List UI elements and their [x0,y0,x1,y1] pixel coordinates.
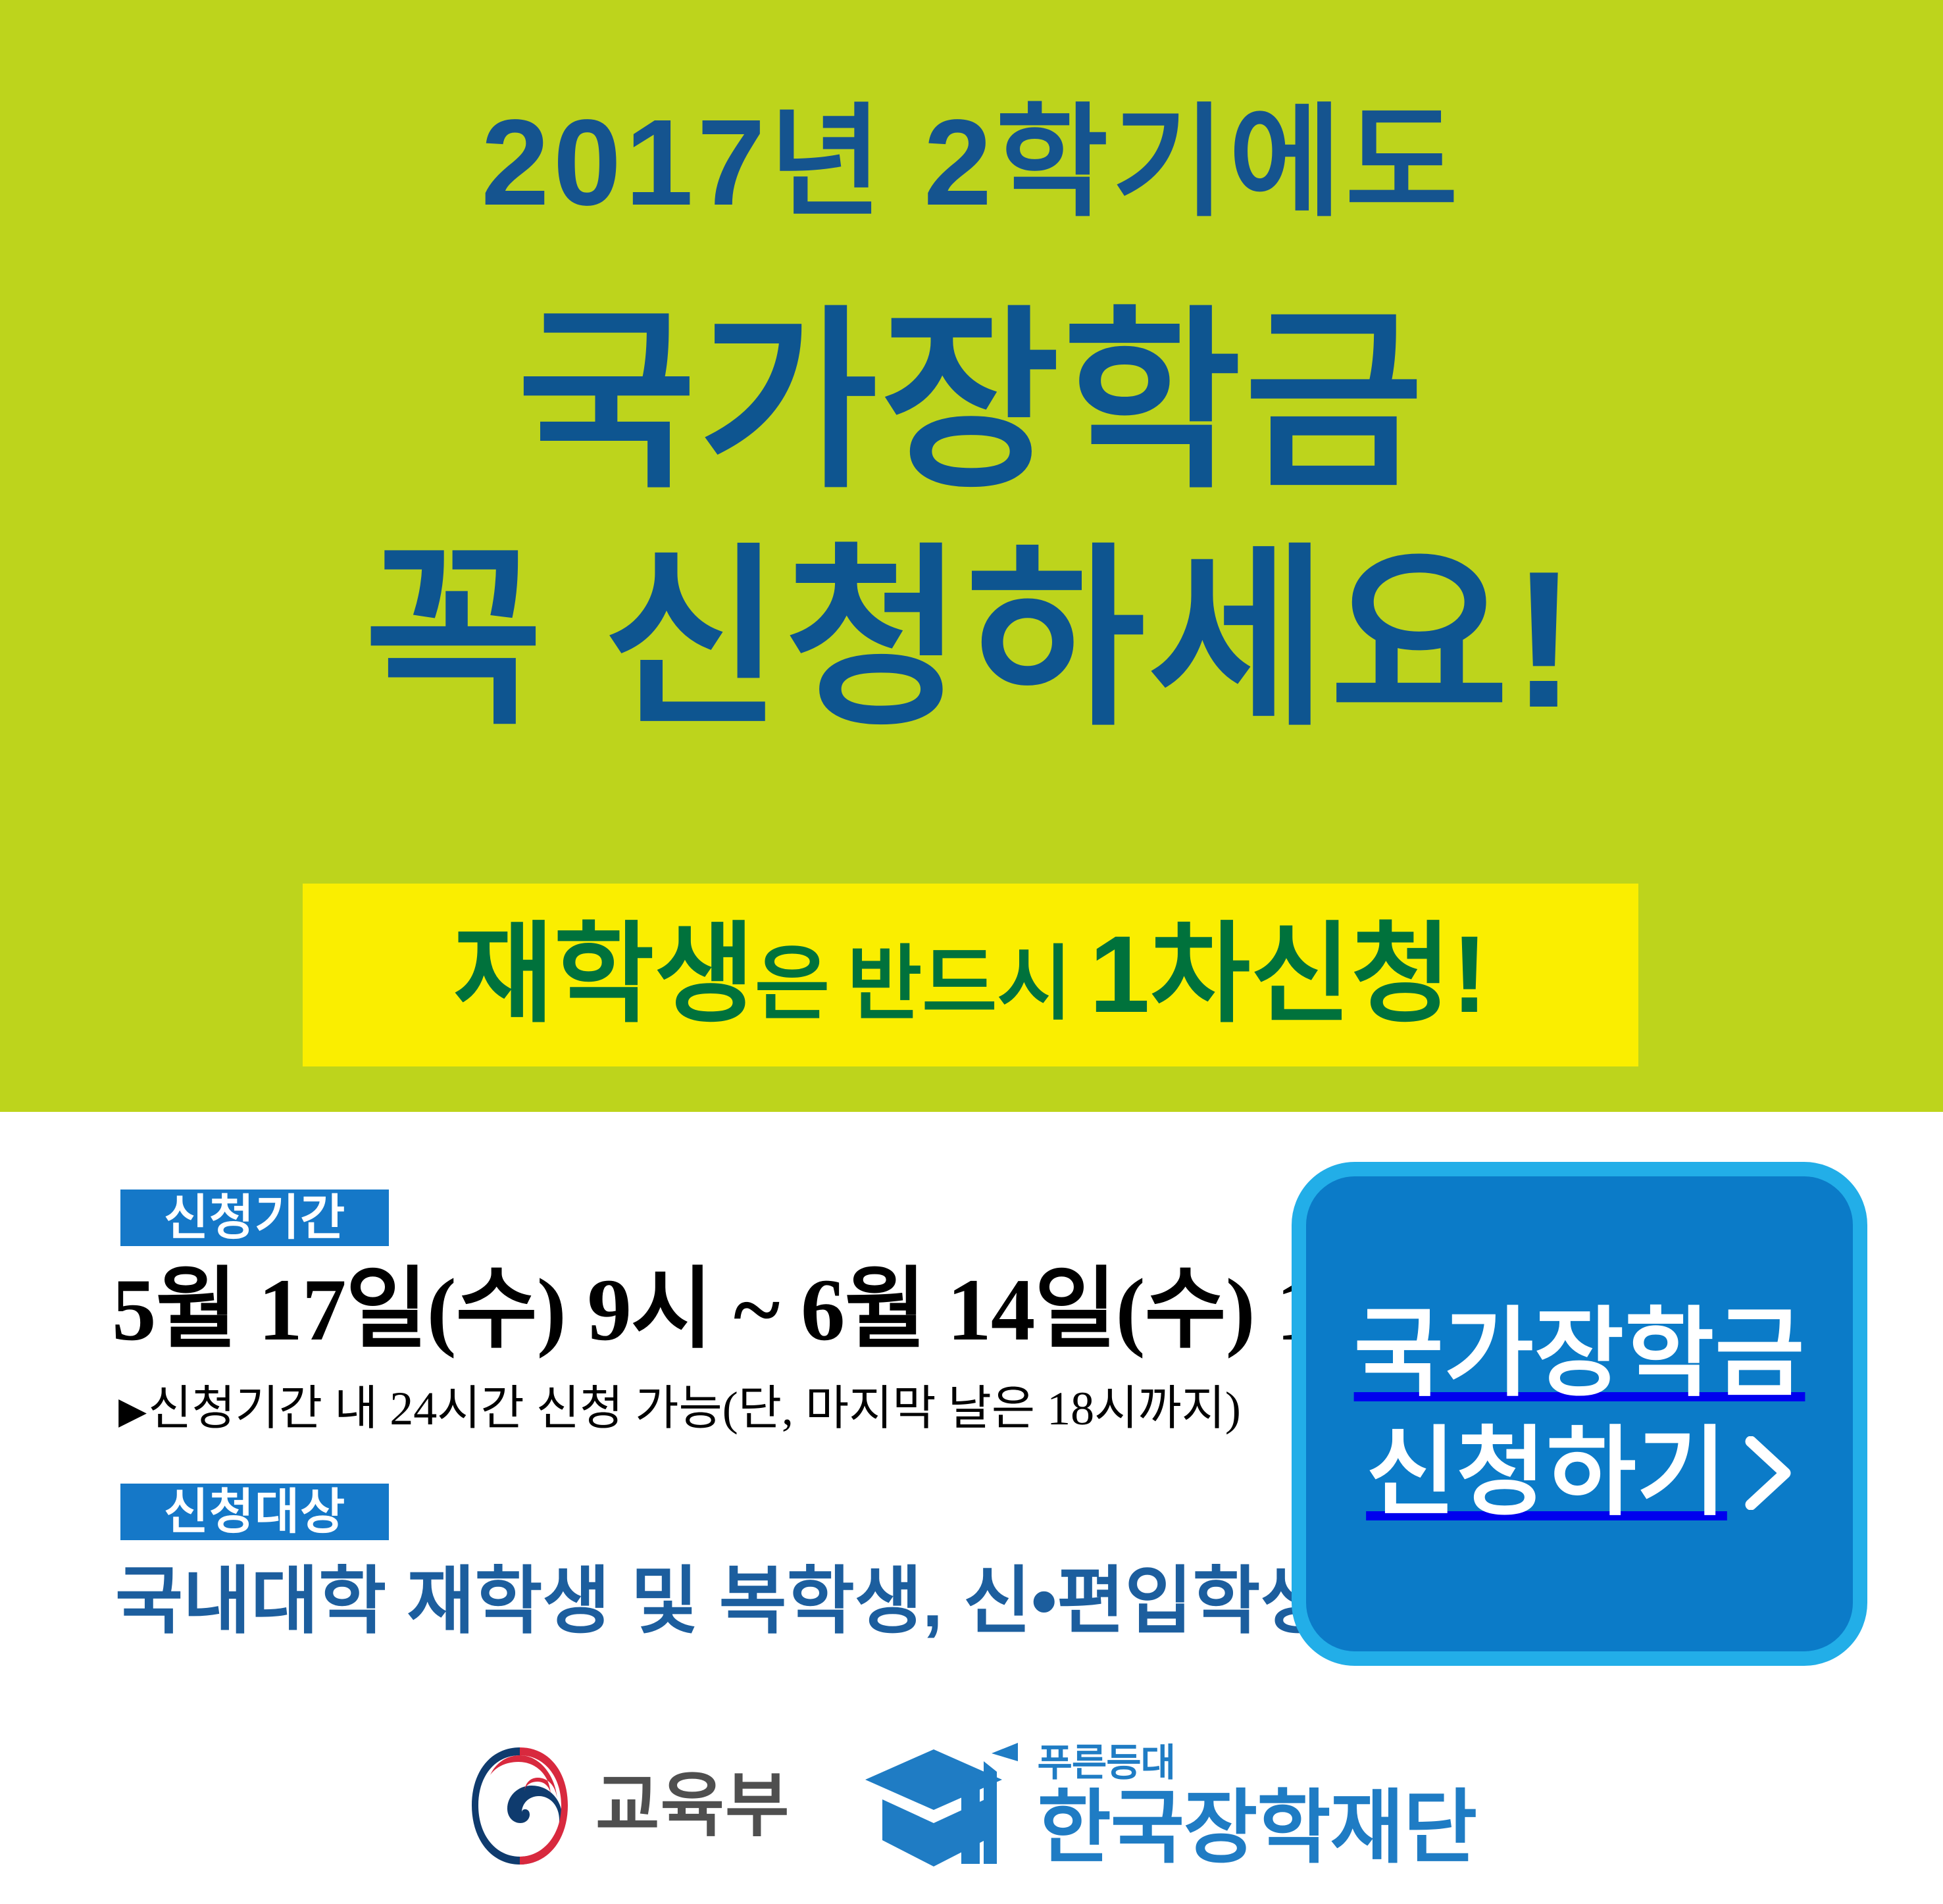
highlight-part-1: 재학생 [453,920,755,1030]
footer-logos: 교육부 [0,1724,1943,1888]
logo-ministry-of-education: 교육부 [467,1745,790,1867]
hero-title-line-1: 국가장학금 [517,293,1426,511]
kosaf-tagline: 푸른등대 [1038,1744,1476,1782]
kosaf-wordmark-stack: 푸른등대 한국장학재단 [1038,1744,1476,1868]
highlight-part-2: 은 [755,943,830,1025]
scholarship-announcement-banner: 2017년 2학기에도 국가장학금 꼭 신청하세요! 재학생은반드시1차신청! … [0,0,1943,1904]
apply-button-line-2: 신청하기 [1366,1414,1727,1533]
logo-kosaf: 푸른등대 한국장학재단 [863,1741,1476,1870]
korea-government-taegeuk-icon [467,1745,573,1867]
highlight-part-3: 반드시 [847,943,1072,1025]
hero-section: 2017년 2학기에도 국가장학금 꼭 신청하세요! 재학생은반드시1차신청! [0,0,1943,1112]
highlight-part-4: 1차신청! [1089,920,1488,1030]
hero-highlight-band: 재학생은반드시1차신청! [303,884,1638,1066]
apply-button-line-1: 국가장학금 [1354,1295,1805,1414]
apply-scholarship-button[interactable]: 국가장학금 신청하기 [1292,1162,1867,1666]
application-period-dates: 5월 17일(수) 9시 ~ 6월 14일(수) 18시 [112,1262,1445,1360]
hero-title: 국가장학금 꼭 신청하세요! [0,283,1943,758]
chevron-right-icon [1744,1436,1793,1510]
kosaf-name: 한국장학재단 [1038,1788,1476,1868]
hero-title-line-2: 꼭 신청하세요! [0,520,1943,758]
apply-button-line-2-row: 신청하기 [1366,1414,1793,1533]
hero-eyebrow: 2017년 2학기에도 [0,99,1943,227]
graduation-cap-lighthouse-icon [863,1741,1021,1870]
ministry-of-education-wordmark: 교육부 [595,1771,790,1841]
application-period-note-text: 신청기간 내 24시간 신청 가능(단, 마지막 날은 18시까지) [148,1382,1241,1435]
application-period-note: ▶신청기간 내 24시간 신청 가능(단, 마지막 날은 18시까지) [118,1382,1241,1436]
application-target-text: 국내대학 재학생 및 복학생, 신•편입학생 [115,1559,1328,1644]
badge-application-period: 신청기간 [120,1190,389,1246]
info-section: 신청기간 5월 17일(수) 9시 ~ 6월 14일(수) 18시 ▶신청기간 … [0,1112,1943,1904]
badge-application-target: 신청대상 [120,1484,389,1540]
hero-highlight-text: 재학생은반드시1차신청! [453,920,1488,1030]
triangle-right-icon: ▶ [118,1391,147,1432]
